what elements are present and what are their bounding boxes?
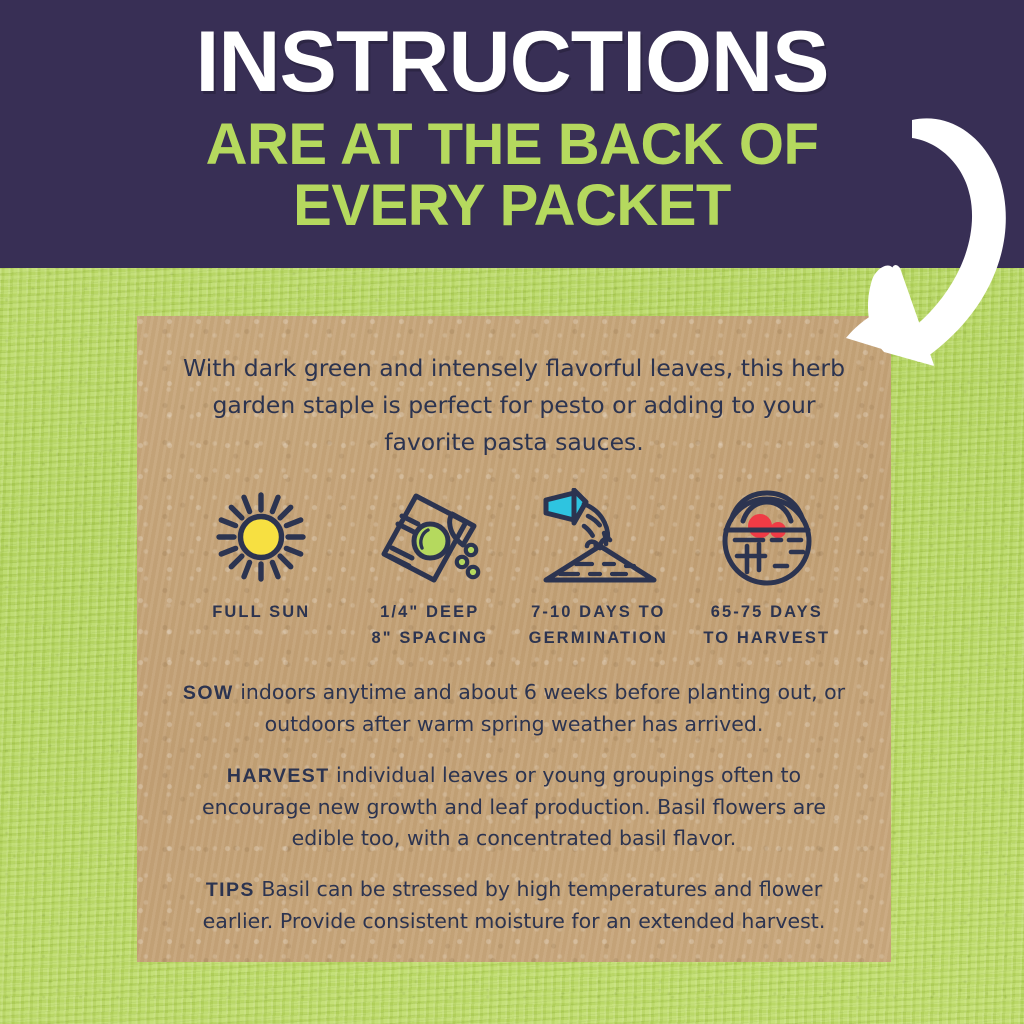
info-item-full-sun: FULL SUN — [177, 489, 346, 625]
info-label-germination: 7-10 DAYS TO GERMINATION — [529, 599, 668, 651]
paragraph-keyword-tips: TIPS — [206, 879, 255, 901]
banner-subtitle-line-1: ARE AT THE BACK OF — [206, 114, 819, 175]
info-item-harvest: 65-75 DAYS TO HARVEST — [683, 489, 852, 651]
instruction-card: With dark green and intensely flavorful … — [137, 316, 891, 962]
seed-packet-instructions-graphic: INSTRUCTIONS ARE AT THE BACK OF EVERY PA… — [0, 0, 1024, 1024]
paragraph-keyword-harvest: HARVEST — [227, 765, 330, 787]
harvest-basket-icon — [715, 489, 819, 585]
instructions-banner: INSTRUCTIONS ARE AT THE BACK OF EVERY PA… — [0, 0, 1024, 268]
seed-packet-icon — [374, 489, 486, 585]
info-item-depth-spacing: 1/4" DEEP 8" SPACING — [346, 489, 515, 651]
instruction-paragraph-tips: TIPS Basil can be stressed by high tempe… — [175, 874, 853, 937]
paragraph-text-sow: indoors anytime and about 6 weeks before… — [234, 680, 845, 736]
growing-info-icon-row: FULL SUN — [177, 489, 851, 651]
watering-soil-icon — [538, 489, 658, 585]
paragraph-keyword-sow: SOW — [183, 682, 234, 704]
instruction-paragraph-sow: SOW indoors anytime and about 6 weeks be… — [175, 677, 853, 740]
info-label-full-sun: FULL SUN — [212, 599, 310, 625]
intro-description: With dark green and intensely flavorful … — [179, 350, 849, 461]
info-item-germination: 7-10 DAYS TO GERMINATION — [514, 489, 683, 651]
page-title: INSTRUCTIONS — [196, 16, 829, 108]
instruction-paragraph-harvest: HARVEST individual leaves or young group… — [175, 760, 853, 854]
info-label-depth-spacing: 1/4" DEEP 8" SPACING — [371, 599, 488, 651]
growing-instructions: SOW indoors anytime and about 6 weeks be… — [171, 677, 857, 937]
sun-icon — [214, 489, 308, 585]
banner-subtitle-line-2: EVERY PACKET — [293, 175, 731, 236]
info-label-harvest: 65-75 DAYS TO HARVEST — [703, 599, 830, 651]
paragraph-text-tips: Basil can be stressed by high temperatur… — [203, 877, 826, 933]
